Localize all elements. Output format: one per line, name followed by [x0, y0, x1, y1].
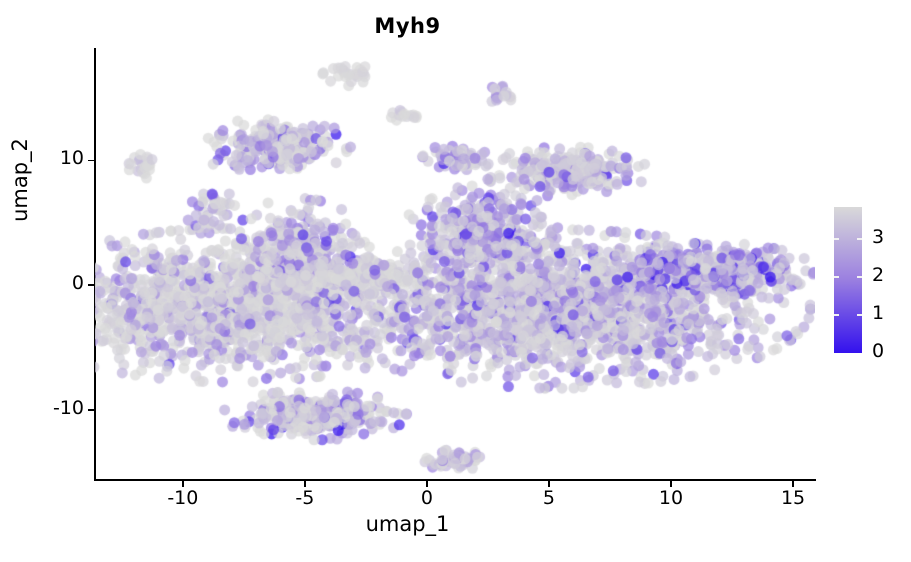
x-tick-label: 0	[397, 487, 457, 509]
colorbar-tick-mark	[834, 314, 839, 316]
y-tick-mark	[88, 160, 94, 162]
colorbar-tick-label: 0	[872, 340, 884, 362]
x-tick-label: -5	[275, 487, 335, 509]
colorbar	[834, 207, 862, 353]
colorbar-tick-mark	[834, 238, 839, 240]
y-axis-label: umap_2	[8, 70, 32, 290]
y-tick-mark	[88, 409, 94, 411]
x-axis-label: umap_1	[0, 512, 815, 536]
x-tick-label: 5	[519, 487, 579, 509]
colorbar-tick-mark	[857, 276, 862, 278]
colorbar-gradient	[834, 207, 862, 353]
x-tick-label: 15	[763, 487, 823, 509]
colorbar-tick-mark	[834, 276, 839, 278]
colorbar-tick-mark	[857, 238, 862, 240]
y-tick-label: -10	[14, 397, 84, 419]
y-tick-mark	[88, 284, 94, 286]
colorbar-tick-label: 1	[872, 302, 884, 324]
x-tick-label: 10	[641, 487, 701, 509]
page-title: Myh9	[0, 14, 815, 38]
colorbar-tick-mark	[857, 314, 862, 316]
scatter-plot-area	[95, 48, 815, 480]
scatter-points-canvas	[95, 48, 815, 480]
colorbar-tick-label: 3	[872, 226, 884, 248]
colorbar-tick-label: 2	[872, 264, 884, 286]
umap-feature-plot-figure: Myh9 -10-5051015 100-10 umap_1 umap_2 32…	[0, 0, 911, 562]
x-tick-label: -10	[153, 487, 213, 509]
